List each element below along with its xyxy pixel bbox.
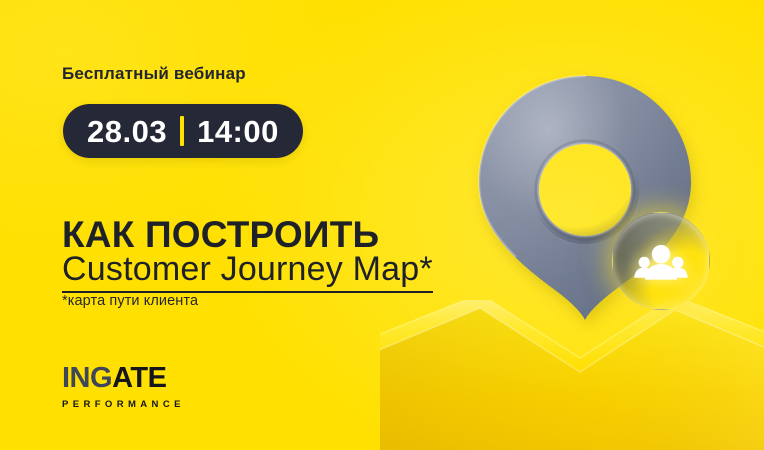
- zigzag-road-icon: [380, 300, 764, 450]
- people-group-icon: [632, 232, 690, 290]
- kicker-text: Бесплатный вебинар: [62, 64, 246, 84]
- people-badge: [612, 212, 710, 310]
- subheadline-text: Customer Journey Map*: [62, 250, 433, 288]
- time-value: 14:00: [197, 116, 279, 147]
- logo-word-part-2: ATE: [112, 362, 166, 394]
- headline: КАК ПОСТРОИТЬ: [62, 216, 379, 253]
- subheadline: Customer Journey Map*: [62, 252, 433, 288]
- logo-word-part-1: ING: [62, 362, 112, 394]
- webinar-poster: Бесплатный вебинар 28.03 14:00 КАК ПОСТР…: [0, 0, 764, 450]
- date-value: 28.03: [87, 116, 167, 147]
- footnote-text: *карта пути клиента: [62, 293, 198, 309]
- date-time-badge: 28.03 14:00: [63, 104, 303, 158]
- date-time-separator: [180, 116, 184, 146]
- logo-tagline: PERFORMANCE: [62, 399, 185, 410]
- logo-wordmark: INGATE: [62, 364, 185, 393]
- ingate-logo: INGATE PERFORMANCE: [62, 364, 185, 410]
